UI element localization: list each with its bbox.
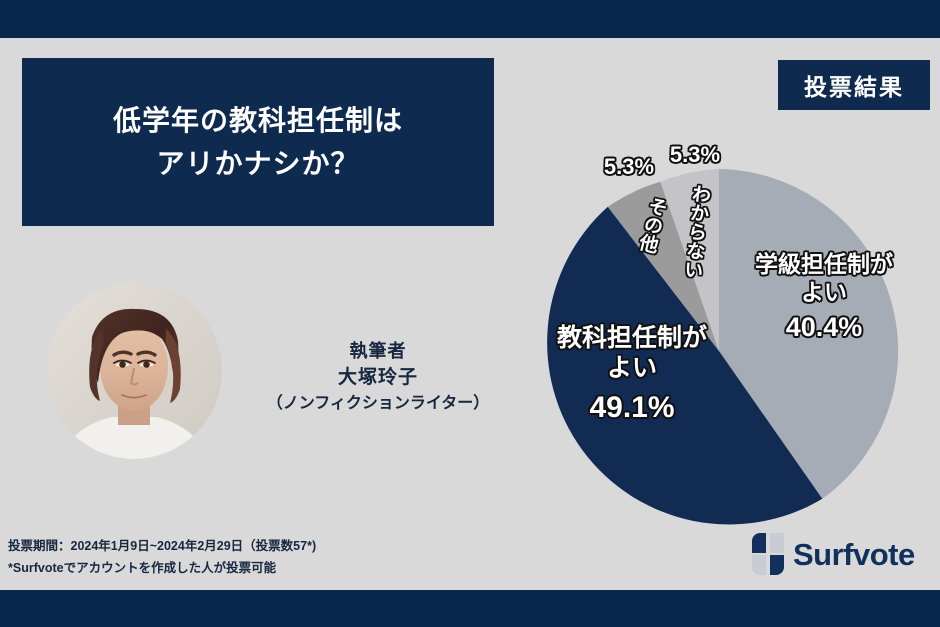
author-portrait (46, 283, 222, 459)
footnote-block: 投票期間：2024年1月9日~2024年2月29日（投票数57*) *Surfv… (8, 536, 316, 580)
pie-label-gakkyu-line2: よい (734, 279, 914, 307)
pie-label-gakkyu: 学級担任制が よい 40.4% (734, 251, 914, 344)
pie-label-kyoka-line2: よい (522, 353, 742, 383)
headline-line-1: 低学年の教科担任制は (113, 103, 403, 138)
author-description: （ノンフィクションライター） (238, 392, 518, 416)
slide-canvas: 低学年の教科担任制は アリかナシか？ 投票結果 (0, 0, 940, 627)
author-caption: 執筆者 大塚玲子 （ノンフィクションライター） (238, 338, 518, 416)
headline-line-2: アリかナシか？ (156, 146, 359, 181)
pie-value-unknown: 5.3% (659, 142, 731, 168)
footnote-account-note: *Surfvoteでアカウントを作成した人が投票可能 (8, 558, 316, 580)
poll-pie-chart: 教科担任制が よい 49.1% 学級担任制が よい 40.4% 5.3% その他… (519, 166, 919, 536)
surfvote-logo: Surfvote (752, 530, 932, 578)
pie-label-kyoka: 教科担任制が よい 49.1% (522, 323, 742, 426)
surfvote-logo-mark (752, 533, 784, 575)
pie-label-kyoka-line1: 教科担任制が (522, 323, 742, 353)
author-name: 大塚玲子 (238, 364, 518, 392)
headline-panel: 低学年の教科担任制は アリかナシか？ (22, 58, 494, 226)
pie-value-gakkyu: 40.4% (734, 311, 914, 343)
surfvote-wordmark: Surfvote (793, 539, 915, 570)
author-role: 執筆者 (238, 338, 518, 364)
pie-value-kyoka: 49.1% (522, 390, 742, 426)
footnote-voting-period: 投票期間：2024年1月9日~2024年2月29日（投票数57*) (8, 536, 316, 558)
result-badge-label: 投票結果 (804, 68, 904, 102)
result-badge: 投票結果 (778, 60, 930, 110)
top-navy-rail (0, 0, 940, 38)
pie-value-other: 5.3% (593, 154, 665, 180)
bottom-navy-rail (0, 590, 940, 627)
pie-label-gakkyu-line1: 学級担任制が (734, 251, 914, 279)
